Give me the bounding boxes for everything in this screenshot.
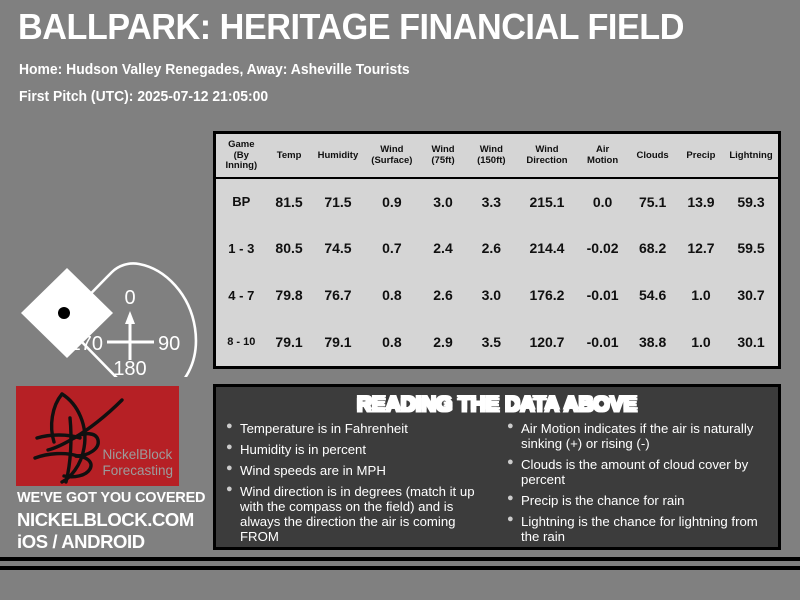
compass-label-east: 90 — [158, 333, 180, 355]
cell-wind-75: 2.4 — [419, 225, 466, 272]
list-item: ●Temperature is in Fahrenheit — [224, 421, 497, 436]
reading-the-data-panel: READING THE DATA ABOVE ●Temperature is i… — [213, 384, 781, 550]
footer-divider-top — [0, 557, 800, 561]
compass-label-west: 270 — [70, 333, 103, 355]
cell-precip: 1.0 — [678, 272, 724, 319]
reading-panel-columns: ●Temperature is in Fahrenheit ●Humidity … — [216, 417, 778, 550]
bullet-icon: ● — [507, 492, 514, 505]
logo-red-box: NickelBlock Forecasting — [16, 386, 179, 486]
cell-wind-direction: 215.1 — [516, 178, 578, 225]
bullet-icon: ● — [226, 483, 233, 496]
bullet-text: Air Motion indicates if the air is natur… — [521, 421, 753, 451]
list-item: ●Lightning is the chance for lightning f… — [505, 514, 778, 544]
cell-lightning: 59.5 — [724, 225, 778, 272]
cell-precip: 13.9 — [678, 178, 724, 225]
cell-game: 4 - 7 — [216, 272, 267, 319]
table-row: 8 - 10 79.1 79.1 0.8 2.9 3.5 120.7 -0.01… — [216, 319, 778, 366]
cell-temp: 80.5 — [267, 225, 312, 272]
col-header-humidity: Humidity — [312, 134, 365, 178]
list-item: ●Humidity is in percent — [224, 442, 497, 457]
cell-wind-150: 3.3 — [467, 178, 516, 225]
footer-divider-bottom — [0, 566, 800, 570]
reading-left-column: ●Temperature is in Fahrenheit ●Humidity … — [216, 421, 497, 550]
forecast-table: Game (By Inning) Temp Humidity Wind (Sur… — [216, 134, 778, 366]
cell-game: 8 - 10 — [216, 319, 267, 366]
table-row: 4 - 7 79.8 76.7 0.8 2.6 3.0 176.2 -0.01 … — [216, 272, 778, 319]
cell-wind-150: 3.0 — [467, 272, 516, 319]
cell-air-motion: -0.01 — [578, 319, 627, 366]
list-item: ●Air Motion indicates if the air is natu… — [505, 421, 778, 451]
brand-logo-block: NickelBlock Forecasting WE'VE GOT YOU CO… — [16, 386, 198, 554]
reading-panel-title: READING THE DATA ABOVE — [216, 393, 778, 417]
cell-lightning: 30.1 — [724, 319, 778, 366]
col-header-lightning: Lightning — [724, 134, 778, 178]
cell-game: BP — [216, 178, 267, 225]
cell-lightning: 30.7 — [724, 272, 778, 319]
page-title: BALLPARK: HERITAGE FINANCIAL FIELD — [18, 6, 684, 48]
cell-wind-75: 2.6 — [419, 272, 466, 319]
logo-platforms: iOS / ANDROID — [17, 531, 145, 553]
bullet-text: Wind speeds are in MPH — [240, 463, 386, 478]
cell-air-motion: -0.01 — [578, 272, 627, 319]
cell-temp: 79.1 — [267, 319, 312, 366]
table-row: 1 - 3 80.5 74.5 0.7 2.4 2.6 214.4 -0.02 … — [216, 225, 778, 272]
logo-brand-line-2: Forecasting — [102, 463, 173, 478]
cell-wind-surface: 0.8 — [364, 319, 419, 366]
col-header-air-motion: Air Motion — [578, 134, 627, 178]
cell-wind-150: 2.6 — [467, 225, 516, 272]
bullet-icon: ● — [226, 420, 233, 433]
cell-air-motion: 0.0 — [578, 178, 627, 225]
cell-wind-direction: 214.4 — [516, 225, 578, 272]
cell-precip: 1.0 — [678, 319, 724, 366]
col-header-game: Game (By Inning) — [216, 134, 267, 178]
list-item: ●Precip is the chance for rain — [505, 493, 778, 508]
bullet-text: Precip is the chance for rain — [521, 493, 684, 508]
cell-humidity: 76.7 — [312, 272, 365, 319]
table-header-row: Game (By Inning) Temp Humidity Wind (Sur… — [216, 134, 778, 178]
list-item: ●Clouds is the amount of cloud cover by … — [505, 457, 778, 487]
compass-label-north: 0 — [124, 287, 135, 309]
pitchers-mound-dot — [58, 307, 70, 319]
cell-wind-direction: 176.2 — [516, 272, 578, 319]
cell-clouds: 54.6 — [627, 272, 678, 319]
cell-temp: 81.5 — [267, 178, 312, 225]
cell-precip: 12.7 — [678, 225, 724, 272]
bullet-text: Wind direction is in degrees (match it u… — [240, 484, 475, 544]
col-header-precip: Precip — [678, 134, 724, 178]
ballpark-field-diagram: 0 90 180 270 — [6, 132, 211, 377]
col-header-temp: Temp — [267, 134, 312, 178]
cell-temp: 79.8 — [267, 272, 312, 319]
cell-humidity: 74.5 — [312, 225, 365, 272]
cell-wind-75: 3.0 — [419, 178, 466, 225]
col-header-clouds: Clouds — [627, 134, 678, 178]
header: BALLPARK: HERITAGE FINANCIAL FIELD Home:… — [0, 0, 800, 118]
cell-wind-direction: 120.7 — [516, 319, 578, 366]
cell-wind-surface: 0.7 — [364, 225, 419, 272]
cell-clouds: 68.2 — [627, 225, 678, 272]
cell-humidity: 79.1 — [312, 319, 365, 366]
cell-wind-surface: 0.9 — [364, 178, 419, 225]
bullet-icon: ● — [507, 513, 514, 526]
bullet-text: Lightning is the chance for lightning fr… — [521, 514, 758, 544]
bullet-text: Humidity is in percent — [240, 442, 366, 457]
cell-wind-150: 3.5 — [467, 319, 516, 366]
cell-clouds: 75.1 — [627, 178, 678, 225]
first-pitch-line: First Pitch (UTC): 2025-07-12 21:05:00 — [19, 89, 268, 105]
logo-website-url[interactable]: NICKELBLOCK.COM — [17, 509, 194, 531]
bullet-icon: ● — [507, 456, 514, 469]
cell-wind-surface: 0.8 — [364, 272, 419, 319]
cell-humidity: 71.5 — [312, 178, 365, 225]
col-header-wind-surface: Wind (Surface) — [364, 134, 419, 178]
field-svg: 0 90 180 270 — [6, 132, 211, 377]
cell-clouds: 38.8 — [627, 319, 678, 366]
bullet-text: Temperature is in Fahrenheit — [240, 421, 408, 436]
col-header-wind-150ft: Wind (150ft) — [467, 134, 516, 178]
logo-wordmark: NickelBlock Forecasting — [102, 447, 173, 478]
cell-lightning: 59.3 — [724, 178, 778, 225]
cell-game: 1 - 3 — [216, 225, 267, 272]
col-header-wind-direction: Wind Direction — [516, 134, 578, 178]
bullet-icon: ● — [226, 441, 233, 454]
reading-right-column: ●Air Motion indicates if the air is natu… — [497, 421, 778, 550]
cell-air-motion: -0.02 — [578, 225, 627, 272]
list-item: ●Wind direction is in degrees (match it … — [224, 484, 497, 544]
logo-tagline: WE'VE GOT YOU COVERED — [17, 490, 205, 506]
col-header-wind-75ft: Wind (75ft) — [419, 134, 466, 178]
logo-brand-line-1: NickelBlock — [102, 447, 173, 462]
bullet-icon: ● — [507, 420, 514, 433]
cell-wind-75: 2.9 — [419, 319, 466, 366]
bullet-text: Clouds is the amount of cloud cover by p… — [521, 457, 748, 487]
compass-rose — [107, 311, 154, 360]
forecast-table-panel: Game (By Inning) Temp Humidity Wind (Sur… — [213, 131, 781, 369]
table-row: BP 81.5 71.5 0.9 3.0 3.3 215.1 0.0 75.1 … — [216, 178, 778, 225]
list-item: ●Wind speeds are in MPH — [224, 463, 497, 478]
teams-line: Home: Hudson Valley Renegades, Away: Ash… — [19, 62, 410, 78]
compass-label-south: 180 — [113, 358, 146, 377]
bullet-icon: ● — [226, 462, 233, 475]
